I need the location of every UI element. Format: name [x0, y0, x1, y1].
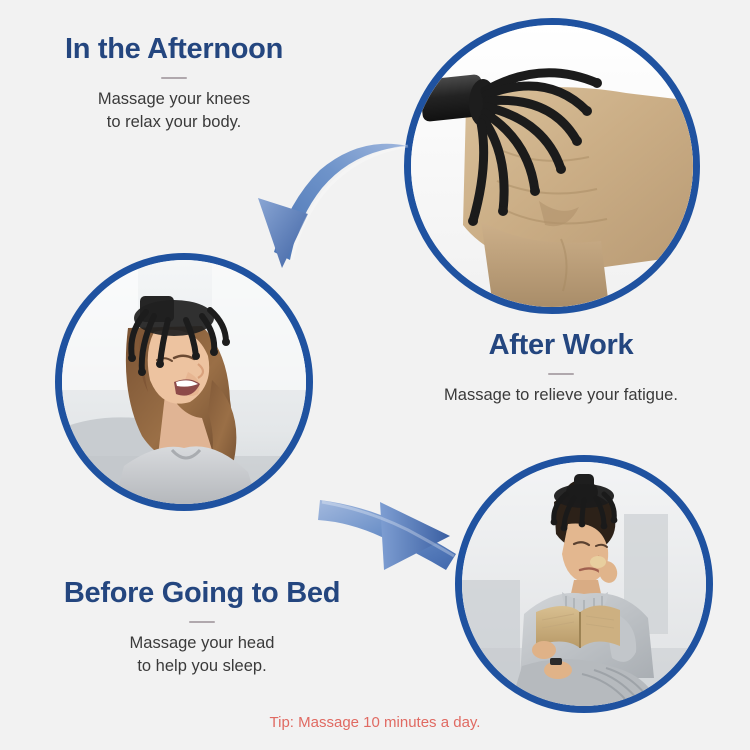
- subtitle-afternoon-line2: to relax your body.: [0, 111, 348, 134]
- knee-massage-photo: [411, 25, 693, 307]
- head-massage-photo: [62, 260, 306, 504]
- heading-separator-afternoon: [161, 77, 187, 79]
- photo-circle-knee: [404, 18, 700, 314]
- section-before-bed: Before Going to Bed Massage your head to…: [8, 578, 396, 679]
- heading-separator-before-bed: [189, 621, 215, 623]
- infographic-canvas: In the Afternoon Massage your knees to r…: [0, 0, 750, 750]
- heading-after-work: After Work: [372, 330, 750, 362]
- subtitle-after-work-line1: Massage to relieve your fatigue.: [372, 384, 750, 407]
- heading-afternoon: In the Afternoon: [0, 34, 348, 66]
- arrow-afternoon-to-head-icon: [236, 140, 411, 270]
- heading-separator-after-work: [548, 373, 574, 375]
- reading-massage-photo: [462, 462, 706, 706]
- subtitle-afternoon-line1: Massage your knees: [0, 88, 348, 111]
- section-after-work: After Work Massage to relieve your fatig…: [372, 330, 750, 407]
- section-afternoon: In the Afternoon Massage your knees to r…: [0, 34, 348, 135]
- tip-text: Tip: Massage 10 minutes a day.: [0, 714, 750, 731]
- subtitle-before-bed-line1: Massage your head: [8, 632, 396, 655]
- subtitle-before-bed-line2: to help you sleep.: [8, 655, 396, 678]
- heading-before-bed: Before Going to Bed: [8, 578, 396, 610]
- photo-circle-head: [55, 253, 313, 511]
